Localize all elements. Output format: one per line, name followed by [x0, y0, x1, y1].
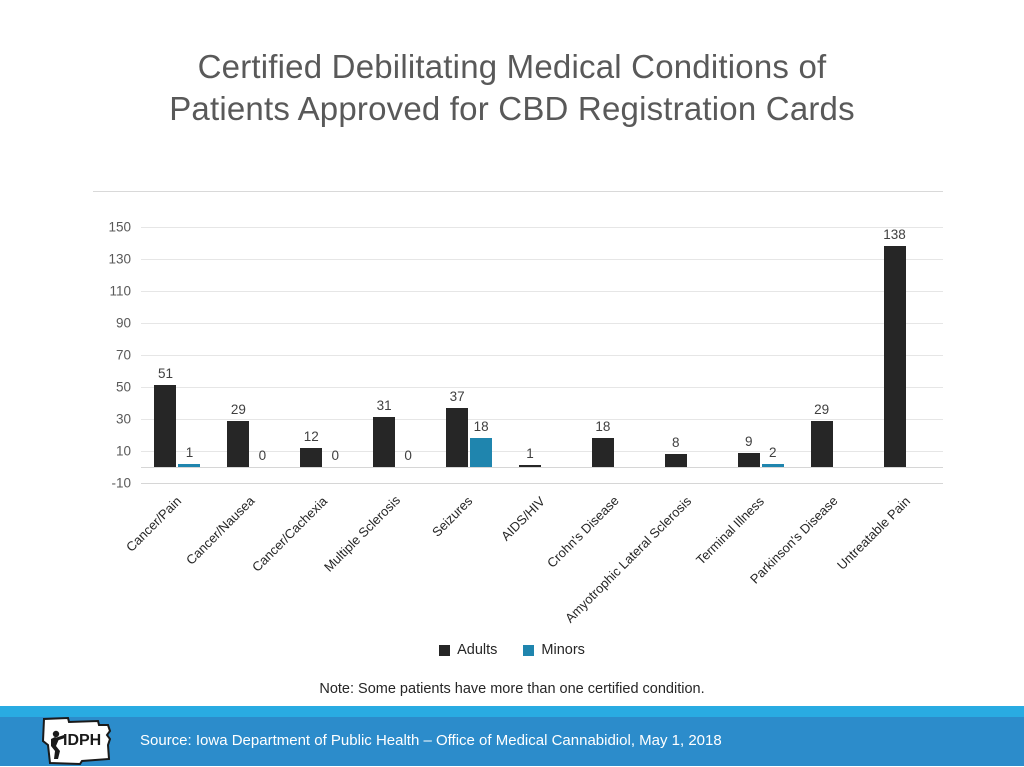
y-axis-tick-label: 150: [85, 220, 131, 235]
y-axis-tick-label: 70: [85, 348, 131, 363]
x-axis-tick-label: Multiple Sclerosis: [321, 493, 403, 575]
chart-container: 1501301109070503010-10 51129012031037181…: [0, 0, 1024, 700]
bar-value-label-adults: 1: [526, 446, 534, 461]
chart-top-divider: [93, 191, 943, 192]
bar-value-label-adults: 51: [158, 366, 173, 381]
gridline: [141, 291, 943, 292]
source-text: Source: Iowa Department of Public Health…: [140, 732, 722, 749]
bar-adults[interactable]: [884, 246, 906, 467]
bar-value-label-minors: 2: [769, 445, 777, 460]
bar-value-label-minors: 0: [404, 448, 412, 463]
legend-swatch-adults-icon: [439, 645, 450, 656]
bar-adults[interactable]: [519, 465, 541, 467]
gridline: [141, 259, 943, 260]
footer: IDPH Source: Iowa Department of Public H…: [0, 706, 1024, 766]
bar-value-label-adults: 18: [595, 419, 610, 434]
legend-item-minors[interactable]: Minors: [523, 642, 585, 658]
bar-adults[interactable]: [300, 448, 322, 467]
y-axis-tick-label: 10: [85, 444, 131, 459]
gridline: [141, 227, 943, 228]
x-axis-labels: Cancer/PainCancer/NauseaCancer/CachexiaM…: [141, 489, 943, 599]
bar-adults[interactable]: [811, 421, 833, 467]
x-axis-tick-label: AIDS/HIV: [498, 493, 548, 543]
bar-value-label-minors: 1: [186, 445, 194, 460]
bar-adults[interactable]: [227, 421, 249, 467]
legend-label-minors: Minors: [541, 642, 585, 658]
bar-adults[interactable]: [446, 408, 468, 467]
legend-swatch-minors-icon: [523, 645, 534, 656]
bar-value-label-minors: 0: [332, 448, 340, 463]
x-axis-tick-label: Amyotrophic Lateral Sclerosis: [562, 493, 694, 625]
y-axis-tick-label: 30: [85, 412, 131, 427]
legend-item-adults[interactable]: Adults: [439, 642, 497, 658]
bar-value-label-adults: 29: [814, 402, 829, 417]
bar-minors[interactable]: [762, 464, 784, 467]
bar-value-label-adults: 9: [745, 434, 753, 449]
x-axis-tick-label: Terminal Illness: [693, 493, 767, 567]
bar-value-label-adults: 37: [450, 389, 465, 404]
bar-value-label-minors: 18: [474, 419, 489, 434]
idph-logo-icon: IDPH: [36, 715, 120, 767]
bar-adults[interactable]: [665, 454, 687, 467]
bar-value-label-adults: 138: [883, 227, 906, 242]
x-axis-tick-label: Seizures: [429, 493, 475, 539]
x-axis-tick-label: Cancer/Pain: [123, 493, 184, 554]
bar-adults[interactable]: [592, 438, 614, 467]
bar-minors[interactable]: [470, 438, 492, 467]
footer-accent-strip: [0, 706, 1024, 717]
bar-value-label-adults: 31: [377, 398, 392, 413]
bar-value-label-minors: 0: [259, 448, 267, 463]
y-axis-tick-label: 110: [85, 284, 131, 299]
gridline: [141, 387, 943, 388]
zero-baseline: [141, 467, 943, 468]
gridline: [141, 483, 943, 484]
bar-adults[interactable]: [154, 385, 176, 467]
y-axis-tick-label: 130: [85, 252, 131, 267]
bar-adults[interactable]: [373, 417, 395, 467]
gridline: [141, 355, 943, 356]
legend-label-adults: Adults: [457, 642, 497, 658]
chart-legend: Adults Minors: [0, 642, 1024, 658]
x-axis-tick-label: Untreatable Pain: [834, 493, 913, 572]
x-axis-tick-label: Cancer/Nausea: [183, 493, 257, 567]
y-axis-tick-label: 90: [85, 316, 131, 331]
bar-value-label-adults: 12: [304, 429, 319, 444]
x-axis-tick-label: Crohn's Disease: [544, 493, 622, 571]
x-axis-tick-label: Cancer/Cachexia: [249, 493, 330, 574]
idph-logo-text: IDPH: [63, 732, 101, 749]
bar-value-label-adults: 8: [672, 435, 680, 450]
bar-adults[interactable]: [738, 453, 760, 467]
y-axis-tick-label: 50: [85, 380, 131, 395]
chart-note: Note: Some patients have more than one c…: [0, 681, 1024, 697]
plot-area: 1501301109070503010-10 51129012031037181…: [141, 227, 943, 483]
y-axis-tick-label: -10: [85, 476, 131, 491]
gridline: [141, 323, 943, 324]
bar-value-label-adults: 29: [231, 402, 246, 417]
bar-minors[interactable]: [178, 464, 200, 467]
